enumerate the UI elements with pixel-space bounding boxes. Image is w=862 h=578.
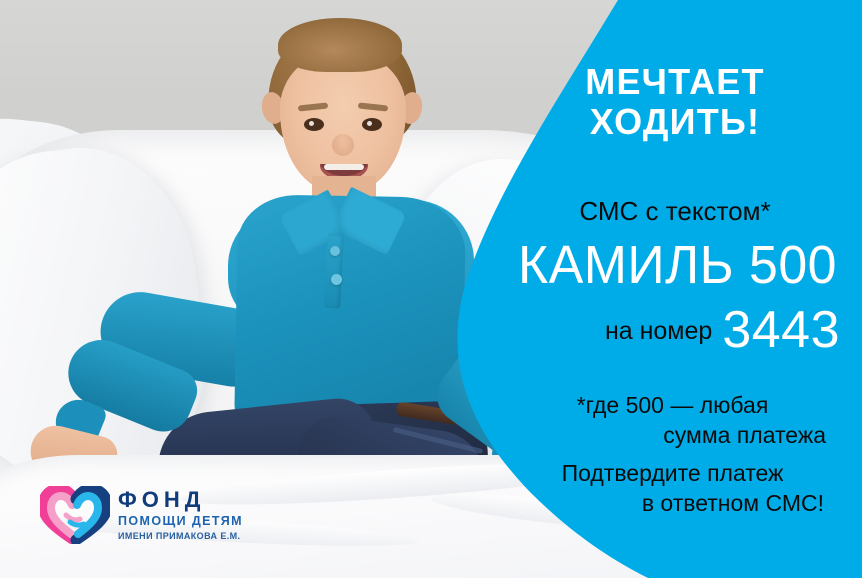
footnote-amount-line-1: *где 500 — любая	[505, 390, 840, 420]
headline-line-1: МЕЧТАЕТ	[505, 62, 845, 102]
shirt-button-top	[330, 246, 340, 256]
nose	[332, 134, 354, 156]
logo-text: ФОНД ПОМОЩИ ДЕТЯМ ИМЕНИ ПРИМАКОВА Е.М.	[118, 489, 243, 541]
cta-panel: МЕЧТАЕТ ХОДИТЬ! СМС с текстом* КАМИЛЬ 50…	[505, 0, 862, 578]
eye-right	[362, 118, 382, 131]
shortcode-label: на номер	[605, 318, 712, 357]
headline-line-2: ХОДИТЬ!	[505, 102, 845, 142]
sms-label: СМС с текстом*	[505, 196, 845, 226]
teeth	[324, 164, 364, 170]
footnote-confirm-line-1: Подтвердите платеж	[505, 458, 840, 488]
footnote-amount-line-2: сумма платежа	[505, 420, 840, 450]
shortcode-row: на номер 3443	[505, 303, 840, 357]
footnote-confirm: Подтвердите платеж в ответном СМС!	[505, 458, 840, 518]
logo-line-fond: ФОНД	[118, 489, 243, 511]
hair-fringe	[278, 18, 402, 72]
foundation-logo[interactable]: ФОНД ПОМОЩИ ДЕТЯМ ИМЕНИ ПРИМАКОВА Е.М.	[40, 484, 255, 546]
headline: МЕЧТАЕТ ХОДИТЬ!	[505, 62, 845, 142]
donation-poster: МЕЧТАЕТ ХОДИТЬ! СМС с текстом* КАМИЛЬ 50…	[0, 0, 862, 578]
logo-line-pomoshchi-detyam: ПОМОЩИ ДЕТЯМ	[118, 515, 243, 528]
eye-left	[304, 118, 324, 131]
sms-keyword: КАМИЛЬ 500	[512, 235, 843, 295]
shortcode-number: 3443	[722, 303, 840, 357]
footnote-confirm-line-2: в ответном СМС!	[505, 488, 840, 518]
shirt-button-bottom	[331, 274, 342, 285]
footnote-amount: *где 500 — любая сумма платежа	[505, 390, 840, 450]
logo-line-imeni-primakova: ИМЕНИ ПРИМАКОВА Е.М.	[118, 532, 243, 541]
heart-hands-icon	[40, 486, 110, 544]
